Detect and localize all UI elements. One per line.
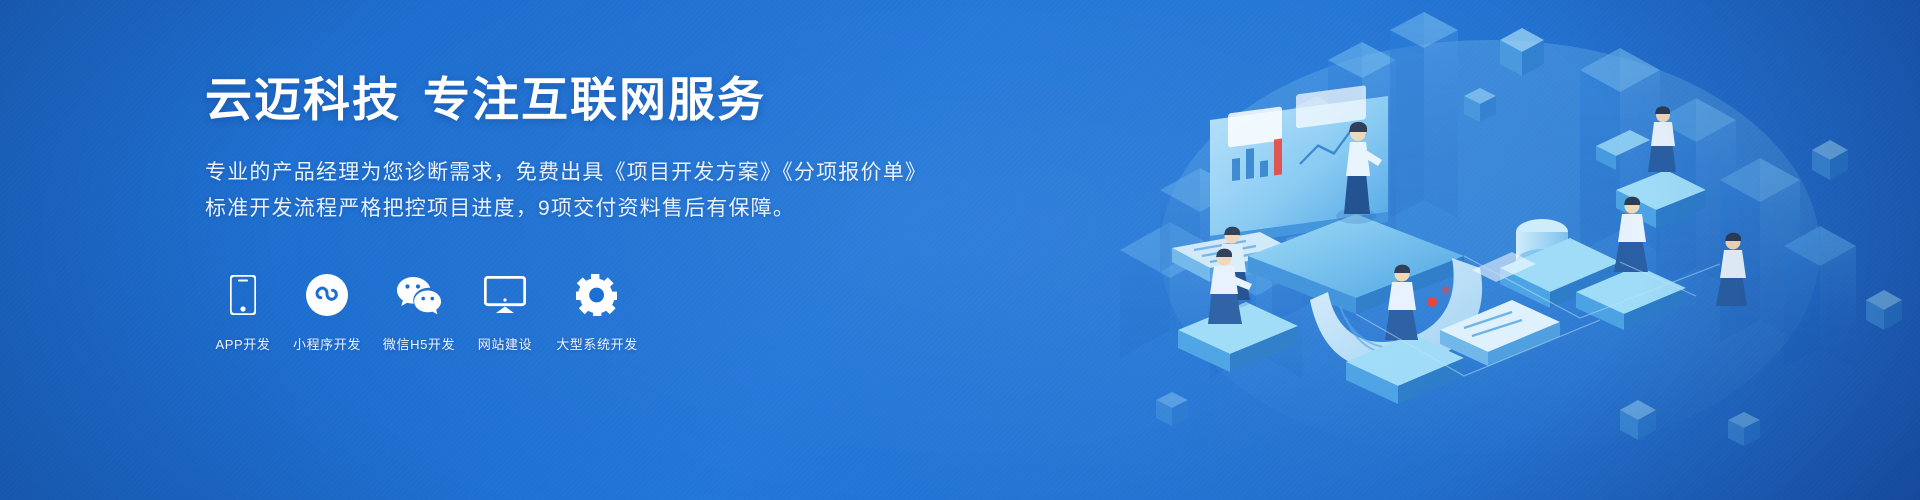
mini-program-icon <box>306 272 348 318</box>
headline-tagline: 专注互联网服务 <box>423 73 766 126</box>
wechat-icon <box>396 272 442 318</box>
service-label: 大型系统开发 <box>556 334 638 353</box>
service-label: 网站建设 <box>478 334 532 353</box>
subtitle-line-2: 标准开发流程严格把控项目进度，9项交付资料售后有保障。 <box>205 191 965 227</box>
headline-brand: 云迈科技 <box>205 73 401 126</box>
service-list: APP开发 小程序开发 <box>205 272 649 353</box>
isometric-tech-team-illustration <box>1060 0 1920 500</box>
service-item-large-system[interactable]: 大型系统开发 <box>545 272 649 353</box>
hero-banner: 云迈科技专注互联网服务 专业的产品经理为您诊断需求，免费出具《项目开发方案》《分… <box>0 0 1920 500</box>
service-label: APP开发 <box>215 334 270 353</box>
mobile-phone-icon <box>230 272 256 318</box>
service-item-miniprogram[interactable]: 小程序开发 <box>281 272 373 353</box>
service-item-app[interactable]: APP开发 <box>205 272 281 353</box>
page-title: 云迈科技专注互联网服务 <box>205 72 965 127</box>
hero-subtitle: 专业的产品经理为您诊断需求，免费出具《项目开发方案》《分项报价单》 标准开发流程… <box>205 155 965 227</box>
gear-icon <box>576 272 618 318</box>
monitor-icon <box>484 272 526 318</box>
service-item-wechat-h5[interactable]: 微信H5开发 <box>373 272 465 353</box>
subtitle-line-1: 专业的产品经理为您诊断需求，免费出具《项目开发方案》《分项报价单》 <box>205 155 965 191</box>
service-label: 小程序开发 <box>293 334 361 353</box>
service-item-website[interactable]: 网站建设 <box>465 272 545 353</box>
hero-content: 云迈科技专注互联网服务 专业的产品经理为您诊断需求，免费出具《项目开发方案》《分… <box>205 72 965 227</box>
service-label: 微信H5开发 <box>383 334 455 353</box>
illustration-container <box>1060 0 1920 500</box>
